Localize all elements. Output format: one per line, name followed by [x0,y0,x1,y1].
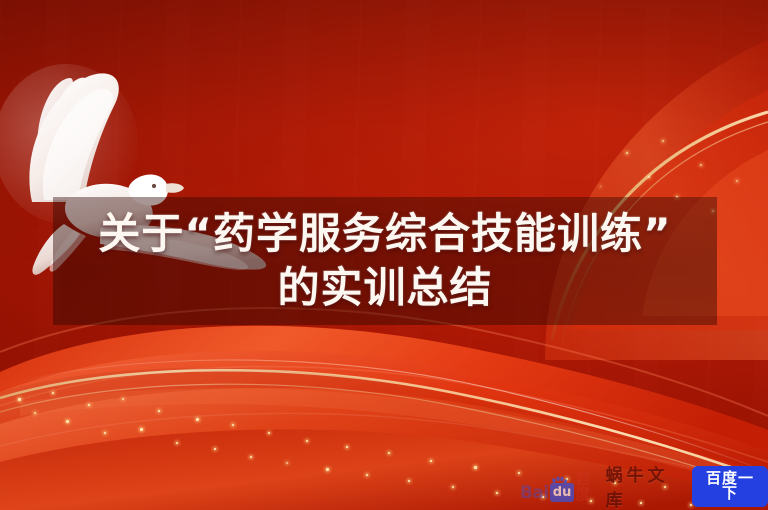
site-name-watermark: 蜗牛文库 [606,461,682,510]
poster-canvas: 关于“药学服务综合技能训练” 的实训总结 Bai du 百度 蜗牛文库 百度一下 [0,0,768,510]
baidu-logo-du-chip: du [550,483,575,502]
title-overlay-plate: 关于“药学服务综合技能训练” 的实训总结 [53,197,717,325]
watermark-bar: Bai du 百度 蜗牛文库 百度一下 [520,471,768,501]
page-title-line-1: 关于“药学服务综合技能训练” [98,207,671,261]
baidu-logo-cn: 百度 [575,472,595,502]
baidu-logo[interactable]: Bai du 百度 [520,472,596,502]
paw-print-icon [551,476,567,485]
page-title-line-2: 的实训总结 [277,261,492,315]
baidu-search-button[interactable]: 百度一下 [692,466,768,507]
baidu-logo-bai: Bai [520,485,549,502]
baidu-logo-du-text: du [553,485,572,500]
